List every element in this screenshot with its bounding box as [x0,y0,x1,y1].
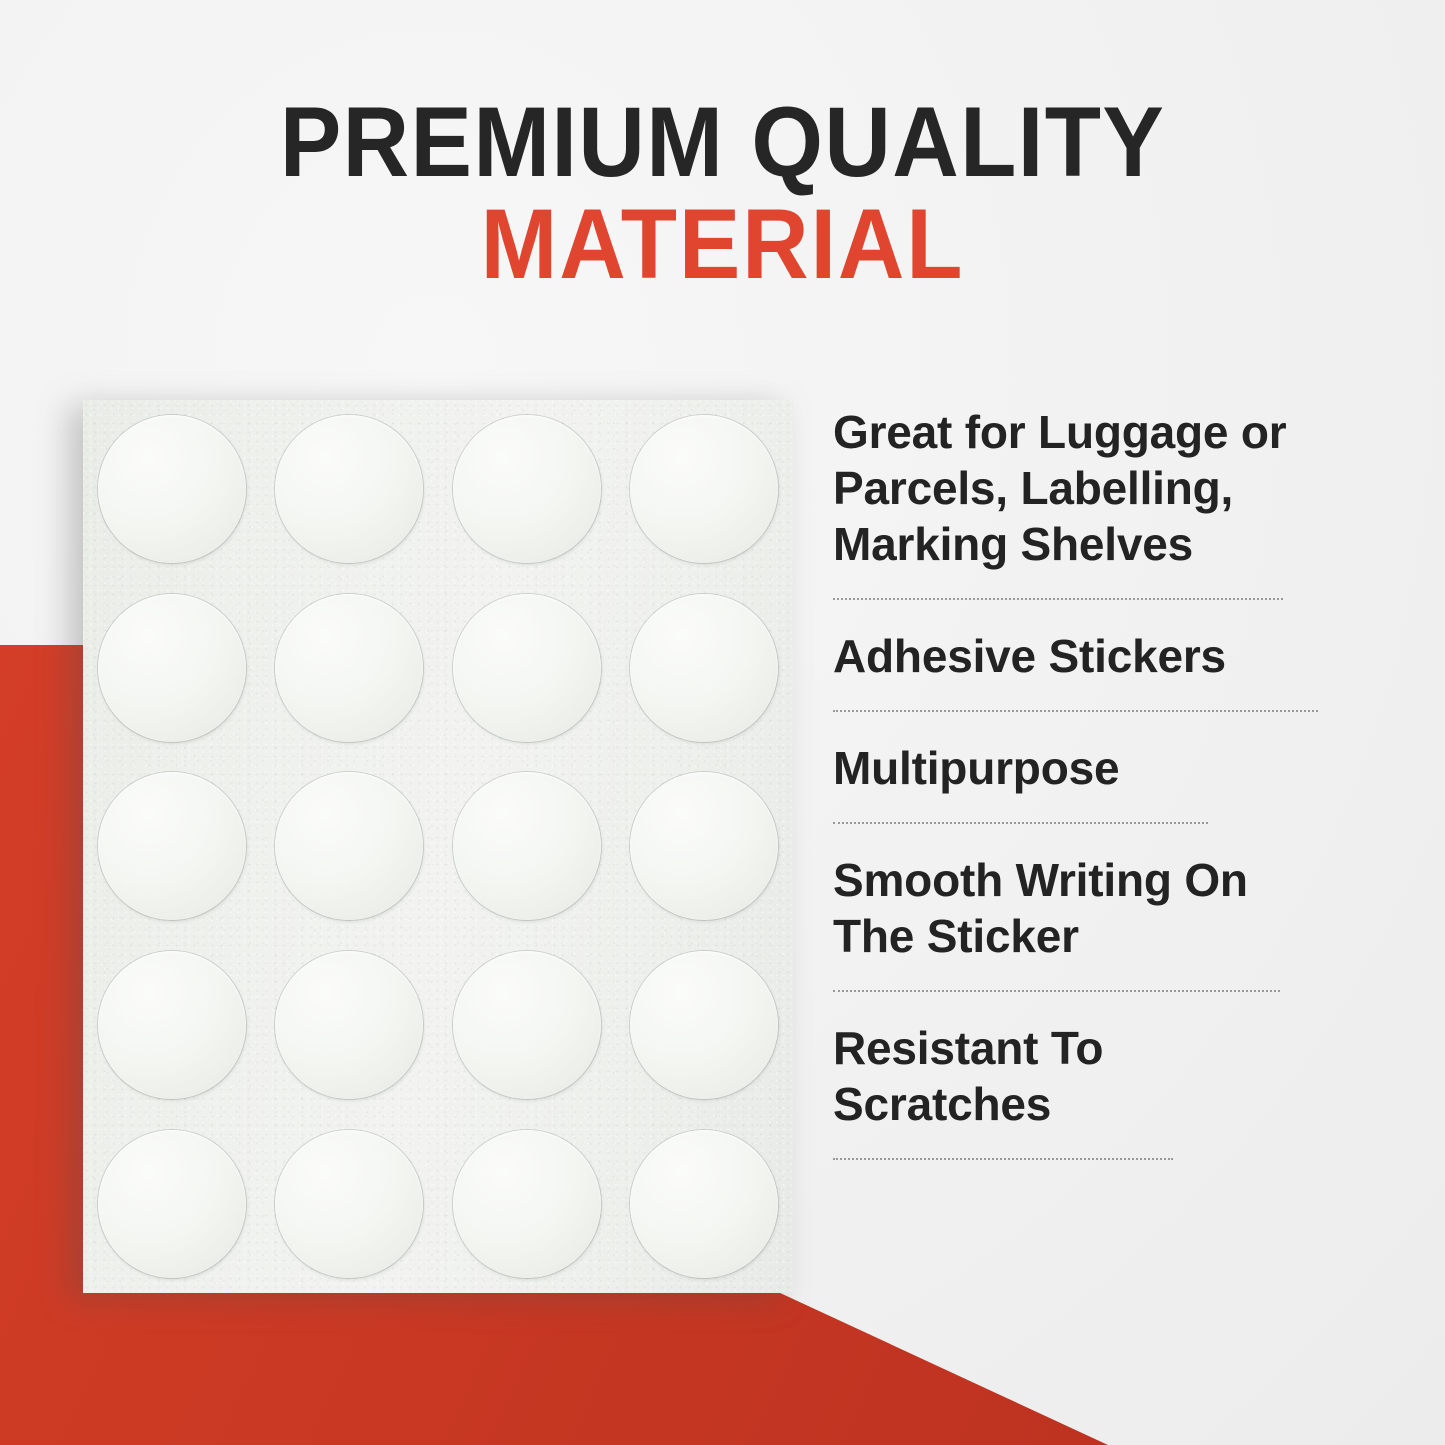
sticker-cell [616,400,794,579]
page-title: PREMIUM QUALITY MATERIAL [0,92,1445,296]
sticker-cell [83,936,261,1115]
feature-item-3: Multipurpose [833,740,1333,796]
sticker-cell [83,1114,261,1293]
feature-divider-4 [833,990,1280,992]
round-sticker [275,772,423,920]
product-image-sticker-sheet [83,400,793,1293]
headline-line-2: MATERIAL [51,192,1395,296]
round-sticker [275,1130,423,1278]
feature-divider-2 [833,710,1318,712]
round-sticker [630,951,778,1099]
sticker-cell [83,757,261,936]
round-sticker [630,772,778,920]
round-sticker [630,594,778,742]
feature-label: Adhesive Stickers [833,628,1333,684]
feature-label: Multipurpose [833,740,1333,796]
sticker-sheet-paper [83,400,793,1293]
sticker-cell [438,579,616,758]
sticker-cell [438,1114,616,1293]
round-sticker [275,415,423,563]
sticker-cell [261,579,439,758]
round-sticker [453,951,601,1099]
round-sticker [275,594,423,742]
sticker-cell [616,579,794,758]
feature-divider-3 [833,822,1208,824]
round-sticker [453,1130,601,1278]
sticker-cell [261,936,439,1115]
sticker-cell [438,757,616,936]
feature-item-1: Great for Luggage or Parcels, Labelling,… [833,404,1333,572]
feature-item-2: Adhesive Stickers [833,628,1333,684]
round-sticker [98,594,246,742]
feature-item-5: Resistant To Scratches [833,1020,1333,1132]
feature-item-4: Smooth Writing On The Sticker [833,852,1333,964]
round-sticker [630,415,778,563]
sticker-cell [83,400,261,579]
round-sticker [453,594,601,742]
sticker-cell [83,579,261,758]
round-sticker [98,772,246,920]
feature-label: Resistant To Scratches [833,1020,1333,1132]
sticker-cell [261,757,439,936]
round-sticker [453,772,601,920]
sticker-cell [616,936,794,1115]
feature-divider-5 [833,1158,1173,1160]
round-sticker [630,1130,778,1278]
sticker-cell [438,936,616,1115]
round-sticker [98,415,246,563]
feature-label: Smooth Writing On The Sticker [833,852,1333,964]
sticker-cell [261,400,439,579]
sticker-cell [261,1114,439,1293]
sticker-cell [616,1114,794,1293]
feature-label: Great for Luggage or Parcels, Labelling,… [833,404,1333,572]
infographic-page: PREMIUM QUALITY MATERIAL [0,0,1445,1445]
sticker-cell [438,400,616,579]
round-sticker [453,415,601,563]
round-sticker [275,951,423,1099]
sticker-grid [83,400,793,1293]
feature-divider-1 [833,598,1283,600]
feature-list: Great for Luggage or Parcels, Labelling,… [833,404,1333,1188]
headline-line-1: PREMIUM QUALITY [51,92,1395,192]
sticker-cell [616,757,794,936]
round-sticker [98,951,246,1099]
round-sticker [98,1130,246,1278]
